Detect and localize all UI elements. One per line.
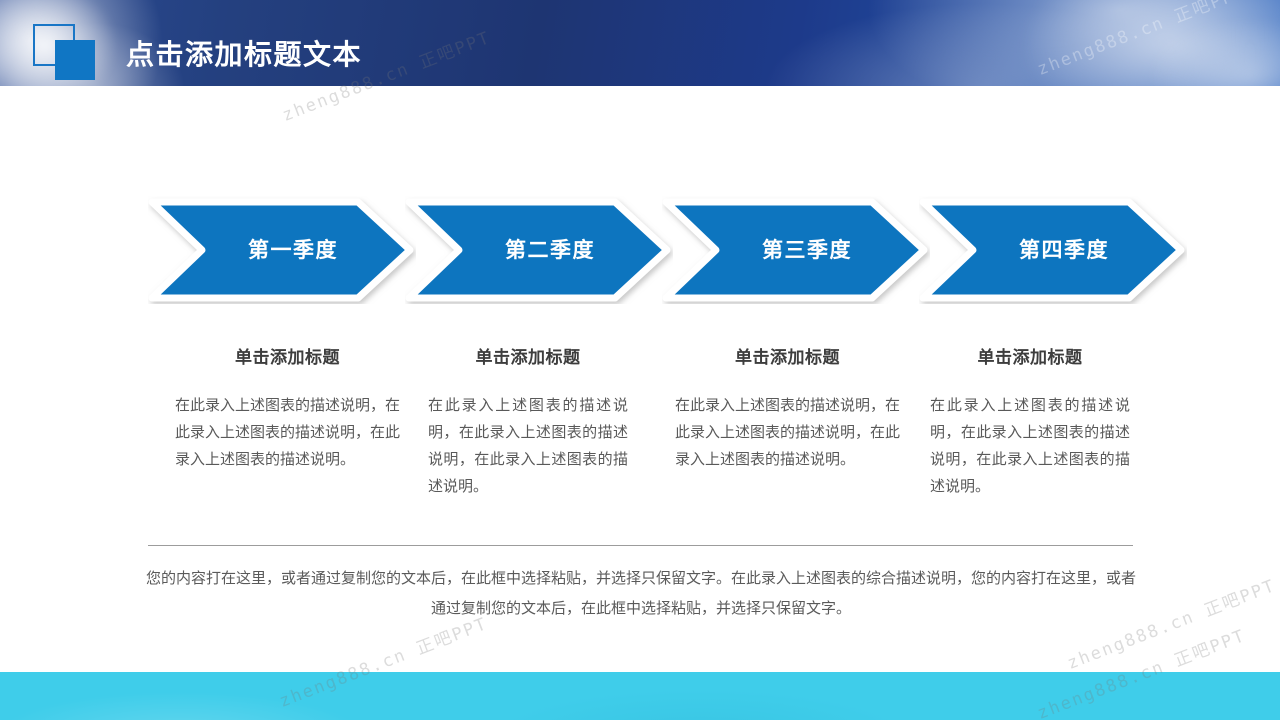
column-1: 单击添加标题 在此录入上述图表的描述说明，在此录入上述图表的描述说明，在此录入上… bbox=[175, 346, 400, 473]
column-3: 单击添加标题 在此录入上述图表的描述说明，在此录入上述图表的描述说明，在此录入上… bbox=[675, 346, 900, 473]
column-4-title: 单击添加标题 bbox=[930, 346, 1130, 370]
bottom-accent-band bbox=[0, 672, 1280, 720]
chevron-step-3-label: 第三季度 bbox=[722, 234, 892, 264]
column-2: 单击添加标题 在此录入上述图表的描述说明，在此录入上述图表的描述说明，在此录入上… bbox=[428, 346, 628, 500]
process-chevron-row: 第一季度 第二季度 第三季度 bbox=[0, 196, 1280, 304]
column-4-body: 在此录入上述图表的描述说明，在此录入上述图表的描述说明，在此录入上述图表的描述说… bbox=[930, 392, 1130, 500]
chevron-step-4-label: 第四季度 bbox=[979, 234, 1149, 264]
chevron-step-1-label: 第一季度 bbox=[208, 234, 378, 264]
square-filled-icon bbox=[55, 40, 95, 80]
column-1-title: 单击添加标题 bbox=[175, 346, 400, 370]
column-3-title: 单击添加标题 bbox=[675, 346, 900, 370]
column-1-body: 在此录入上述图表的描述说明，在此录入上述图表的描述说明，在此录入上述图表的描述说… bbox=[175, 392, 400, 473]
page-title: 点击添加标题文本 bbox=[126, 38, 362, 72]
chevron-step-1[interactable]: 第一季度 bbox=[148, 196, 416, 304]
section-divider bbox=[148, 545, 1133, 546]
column-2-title: 单击添加标题 bbox=[428, 346, 628, 370]
summary-footnote: 您的内容打在这里，或者通过复制您的文本后，在此框中选择粘贴，并选择只保留文字。在… bbox=[145, 563, 1137, 623]
cloud-decoration-far-right bbox=[1150, 20, 1280, 86]
chevron-step-3[interactable]: 第三季度 bbox=[662, 196, 930, 304]
chevron-step-4[interactable]: 第四季度 bbox=[919, 196, 1187, 304]
column-4: 单击添加标题 在此录入上述图表的描述说明，在此录入上述图表的描述说明，在此录入上… bbox=[930, 346, 1130, 500]
chevron-step-2-label: 第二季度 bbox=[465, 234, 635, 264]
column-2-body: 在此录入上述图表的描述说明，在此录入上述图表的描述说明，在此录入上述图表的描述说… bbox=[428, 392, 628, 500]
logo-mark bbox=[33, 24, 99, 80]
slide-header: 点击添加标题文本 zheng888.cn 正吧PPT bbox=[0, 0, 1280, 86]
chevron-step-2[interactable]: 第二季度 bbox=[405, 196, 673, 304]
column-3-body: 在此录入上述图表的描述说明，在此录入上述图表的描述说明，在此录入上述图表的描述说… bbox=[675, 392, 900, 473]
